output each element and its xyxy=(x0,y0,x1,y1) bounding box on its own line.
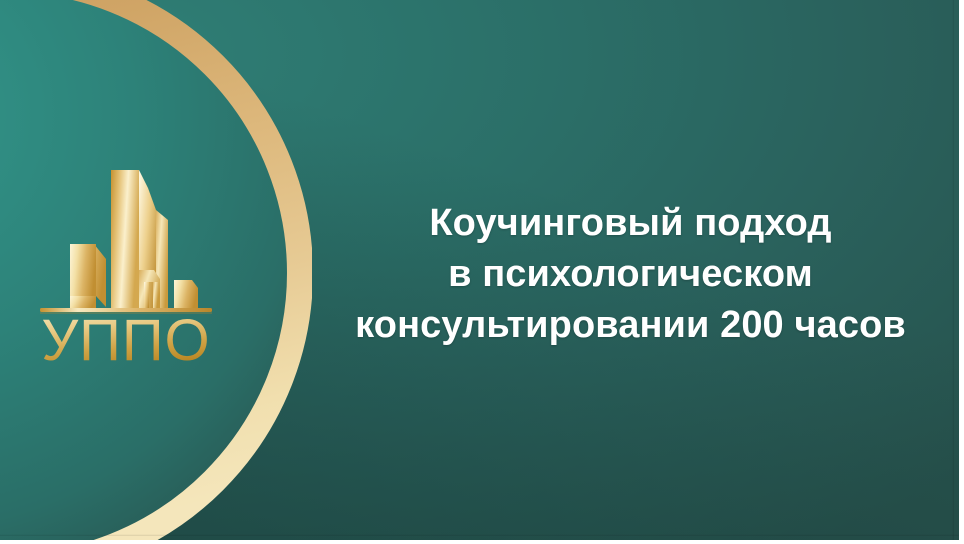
logo-buildings xyxy=(70,170,198,311)
title-line-1: Коучинговый подход xyxy=(318,198,943,249)
page-margin-bottom xyxy=(0,540,964,544)
title-line-2: в психологическом xyxy=(318,249,943,300)
title-slide: УППО Коучинговый подход в психологическо… xyxy=(0,0,959,540)
logo-wordmark: УППО xyxy=(41,308,210,366)
slide-title: Коучинговый подход в психологическом кон… xyxy=(318,198,943,351)
page-margin-right xyxy=(959,0,964,544)
right-edge-shadow xyxy=(952,0,954,540)
uppo-logo: УППО xyxy=(26,148,226,366)
bottom-edge-shadow xyxy=(0,534,959,536)
title-line-3: консультировании 200 часов xyxy=(318,300,943,351)
